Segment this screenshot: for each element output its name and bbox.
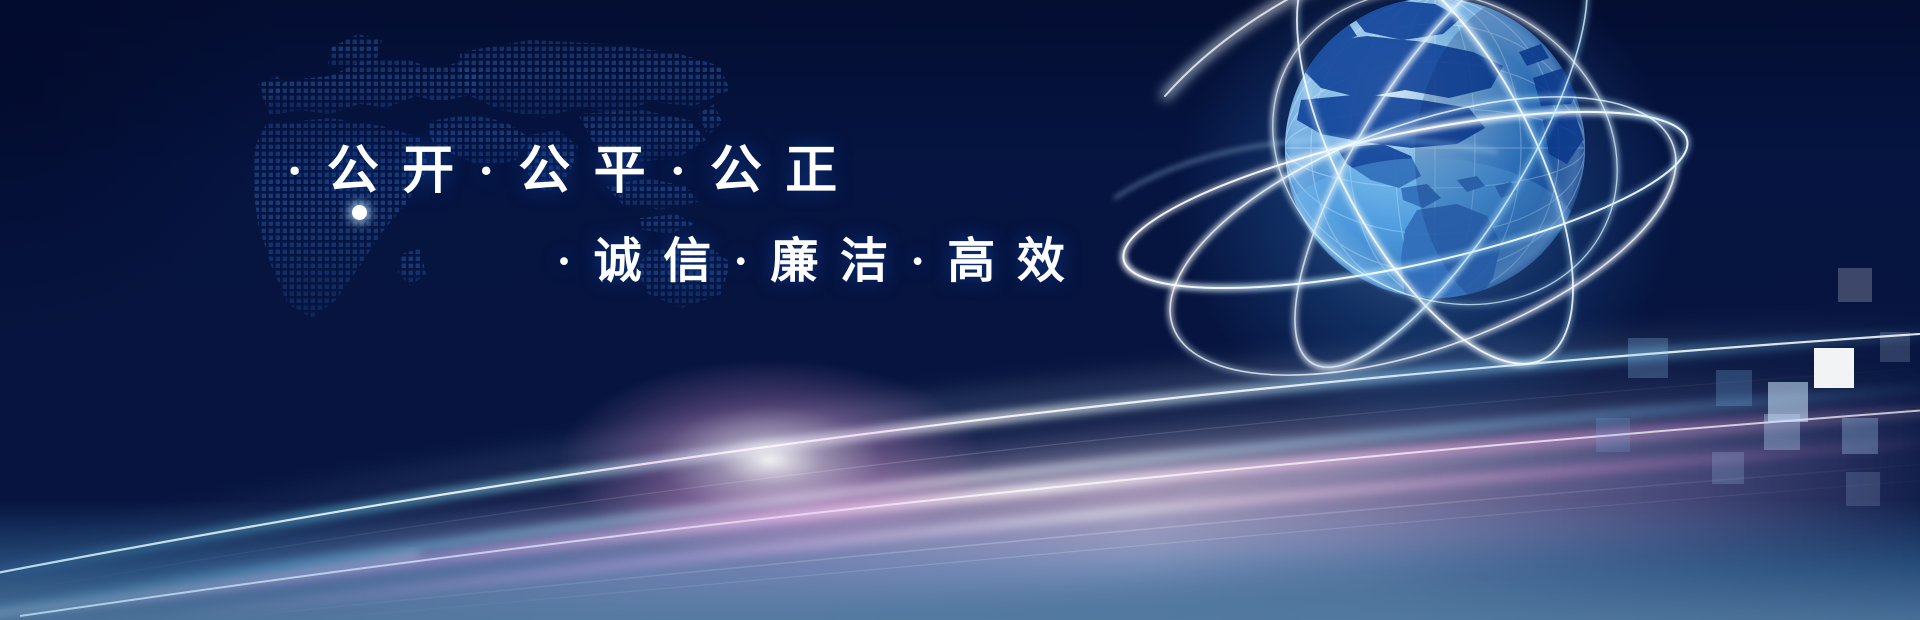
decorative-square	[1764, 414, 1800, 450]
decorative-square	[1768, 382, 1808, 422]
world-map-location-marker-icon	[352, 205, 367, 220]
bottom-light-streaks	[0, 280, 1920, 620]
bottom-sheen-overlay	[0, 500, 1920, 620]
decorative-square	[1628, 338, 1668, 378]
decorative-square	[1716, 370, 1752, 406]
decorative-square	[1814, 348, 1854, 388]
banner-root: · 公 开 · 公 平 · 公 正 · 诚 信 · 廉 洁 · 高 效	[0, 0, 1920, 620]
globe-glow	[1150, 0, 1670, 440]
slogan-line-1: · 公 开 · 公 平 · 公 正	[286, 146, 842, 198]
decorative-square	[1880, 332, 1910, 362]
decorative-square	[1842, 418, 1878, 454]
left-vignette-overlay	[0, 0, 620, 430]
orbiting-globe-graphic	[1105, 0, 1665, 448]
decorative-square	[1838, 268, 1872, 302]
light-hotspot-glow	[560, 360, 980, 560]
decorative-square	[1846, 472, 1880, 506]
decorative-square	[1712, 452, 1744, 484]
slogan-line-2: · 诚 信 · 廉 洁 · 高 效	[556, 238, 1070, 286]
decorative-square	[1596, 418, 1630, 452]
